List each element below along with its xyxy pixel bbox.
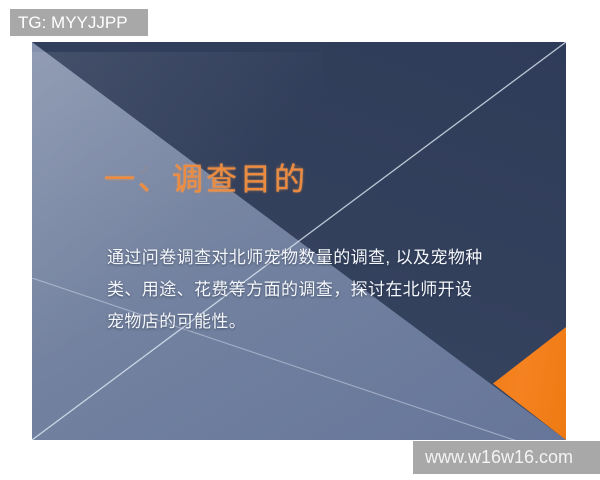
slide-body-text: 通过问卷调查对北师宠物数量的调查, 以及宠物种 类、用途、花费等方面的调查，探讨… bbox=[107, 242, 507, 338]
slide-title-block: 一、调查目的 一、调查目的 bbox=[104, 160, 524, 250]
presentation-slide: 一、调查目的 一、调查目的 通过问卷调查对北师宠物数量的调查, 以及宠物种 类、… bbox=[32, 42, 566, 440]
body-line: 宠物店的可能性。 bbox=[107, 306, 507, 338]
watermark-bottom-right: www.w16w16.com bbox=[413, 441, 600, 474]
body-line: 通过问卷调查对北师宠物数量的调查, 以及宠物种 bbox=[107, 242, 507, 274]
body-line: 类、用途、花费等方面的调查，探讨在北师开设 bbox=[107, 274, 507, 306]
slide-title: 一、调查目的 bbox=[104, 160, 524, 200]
watermark-top-left: TG: MYYJJPP bbox=[10, 9, 148, 36]
screenshot-canvas: 一、调查目的 一、调查目的 通过问卷调查对北师宠物数量的调查, 以及宠物种 类、… bbox=[0, 0, 600, 480]
